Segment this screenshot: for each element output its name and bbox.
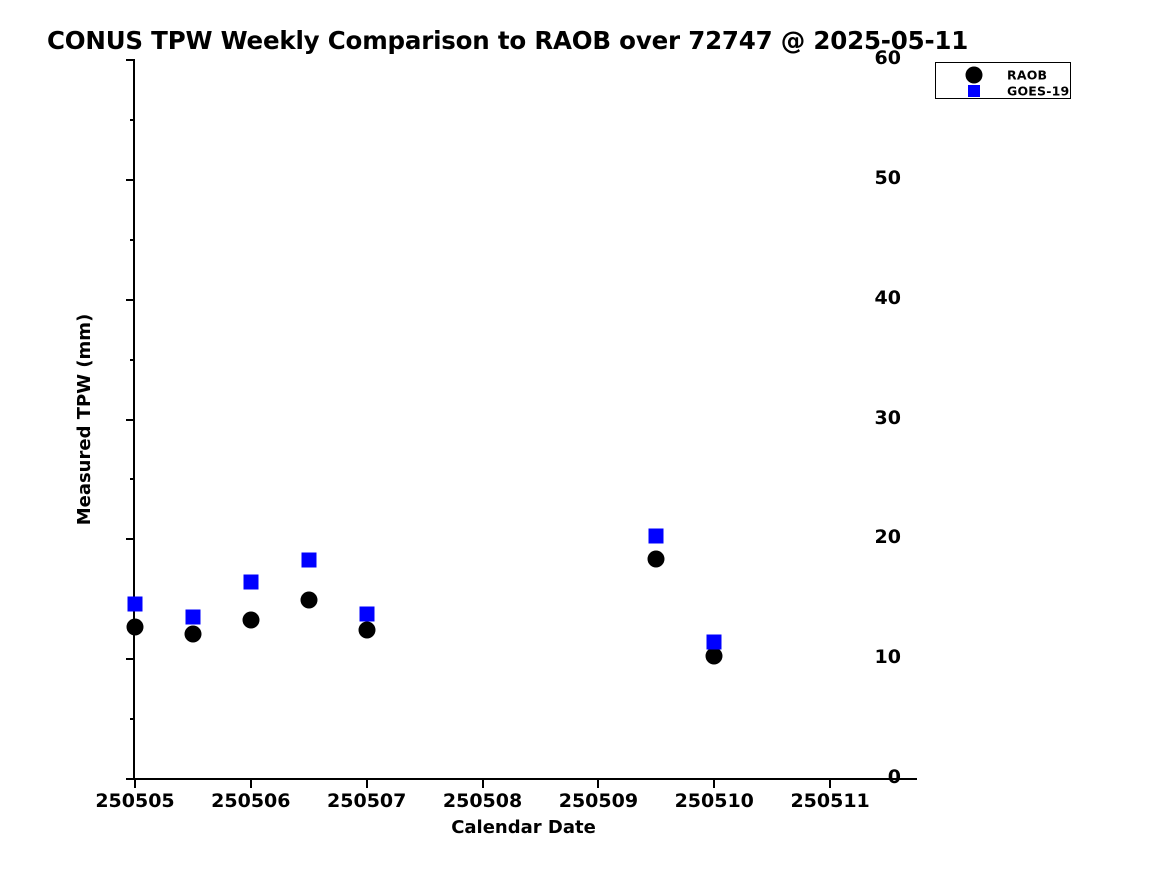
y-tick-mark (126, 59, 135, 61)
y-tick-label: 50 (841, 167, 901, 189)
y-tick-label: 10 (841, 646, 901, 668)
x-tick-label: 250511 (790, 790, 869, 812)
x-tick-mark (134, 779, 136, 788)
x-tick-mark (366, 779, 368, 788)
x-tick-label: 250505 (95, 790, 174, 812)
x-tick-mark (829, 779, 831, 788)
legend-square-icon (965, 82, 983, 100)
y-tick-minor (130, 359, 135, 361)
y-tick-minor (130, 239, 135, 241)
data-point-raob (300, 592, 317, 609)
y-axis-label: Measured TPW (mm) (73, 60, 97, 779)
x-tick-mark (597, 779, 599, 788)
data-point-raob (648, 550, 665, 567)
y-tick-mark (126, 538, 135, 540)
data-point-goes-19 (359, 606, 374, 621)
y-tick-minor (130, 478, 135, 480)
x-tick-label: 250508 (443, 790, 522, 812)
data-point-goes-19 (301, 552, 316, 567)
chart-figure: CONUS TPW Weekly Comparison to RAOB over… (0, 0, 1167, 875)
y-tick-mark (126, 299, 135, 301)
y-tick-label: 40 (841, 287, 901, 309)
x-tick-mark (482, 779, 484, 788)
data-point-raob (358, 622, 375, 639)
data-point-raob (184, 626, 201, 643)
y-tick-minor (130, 119, 135, 121)
y-tick-label: 30 (841, 407, 901, 429)
y-tick-label: 20 (841, 526, 901, 548)
plot-area: 0102030405060 25050525050625050725050825… (135, 60, 917, 779)
x-axis-label: Calendar Date (451, 817, 596, 838)
page-title: CONUS TPW Weekly Comparison to RAOB over… (47, 26, 968, 55)
legend-item-goes-19: GOES-19 (936, 82, 1070, 99)
data-point-raob (127, 618, 144, 635)
y-tick-mark (126, 179, 135, 181)
data-point-goes-19 (707, 635, 722, 650)
y-tick-mark (126, 658, 135, 660)
legend-item-raob: RAOB (936, 66, 1070, 83)
y-tick-label: 0 (841, 766, 901, 788)
data-point-goes-19 (128, 597, 143, 612)
x-tick-mark (713, 779, 715, 788)
legend-label: RAOB (1007, 67, 1047, 82)
data-point-goes-19 (649, 528, 664, 543)
y-tick-minor (130, 718, 135, 720)
x-tick-label: 250506 (211, 790, 290, 812)
data-point-goes-19 (243, 575, 258, 590)
x-tick-label: 250510 (675, 790, 754, 812)
x-tick-label: 250507 (327, 790, 406, 812)
y-tick-label: 60 (841, 47, 901, 69)
x-tick-label: 250509 (559, 790, 638, 812)
data-point-raob (242, 611, 259, 628)
x-axis-label-wrap: Calendar Date (0, 817, 1167, 838)
legend-label: GOES-19 (1007, 83, 1069, 98)
legend-marker (966, 66, 983, 83)
legend-marker (968, 85, 980, 97)
chart-legend: RAOBGOES-19 (935, 62, 1071, 99)
y-tick-mark (126, 419, 135, 421)
x-tick-mark (250, 779, 252, 788)
data-point-goes-19 (185, 610, 200, 625)
